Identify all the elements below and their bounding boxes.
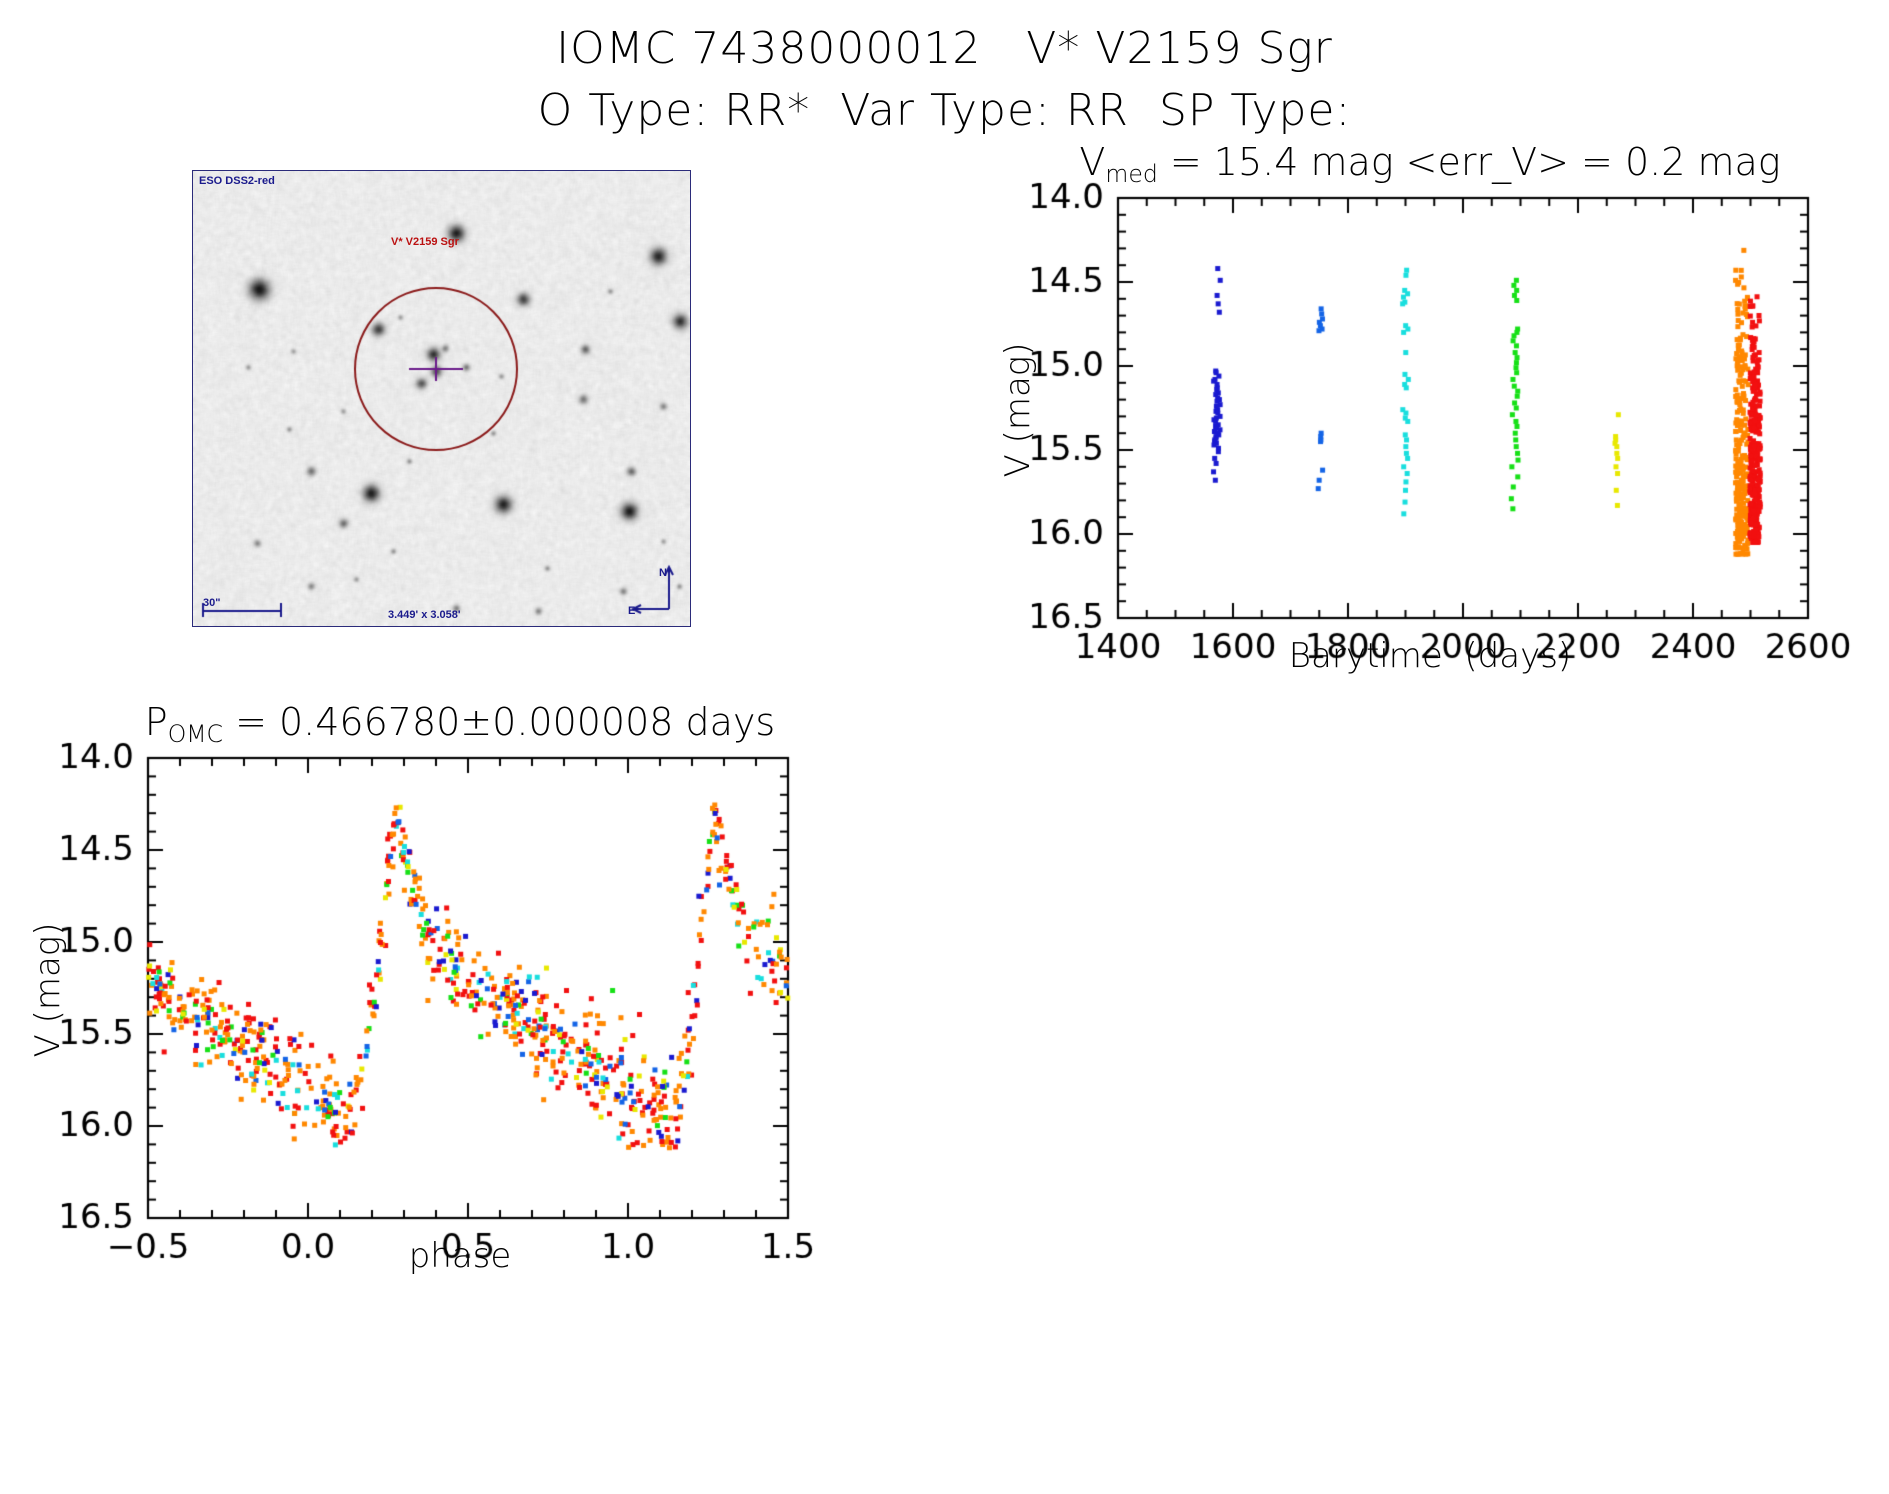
light-curve-panel: Vmed = 15.4 mag <err_V> = 0.2 mag Baryti… xyxy=(1000,140,1860,680)
page-title: IOMC 7438000012 V* V2159 Sgr O Type: RR*… xyxy=(0,18,1889,142)
title-line-object: IOMC 7438000012 V* V2159 Sgr xyxy=(0,18,1889,80)
light-curve-xlabel: Barytime (days) xyxy=(1000,636,1860,676)
title-line-types: O Type: RR* Var Type: RR SP Type: xyxy=(0,80,1889,142)
phase-curve-plot[interactable] xyxy=(30,700,890,1280)
east-label: E xyxy=(628,605,635,617)
finder-chart[interactable]: ESO DSS2-red V* V2159 Sgr 30" 3.449' x 3… xyxy=(192,170,691,627)
phase-curve-xlabel: phase xyxy=(30,1236,890,1276)
survey-label: ESO DSS2-red xyxy=(199,175,275,187)
light-curve-ylabel: V (mag) xyxy=(998,160,1038,660)
north-label: N xyxy=(659,567,667,579)
light-curve-plot[interactable] xyxy=(1000,140,1860,680)
field-size-label: 3.449' x 3.058' xyxy=(388,609,461,621)
scalebar-label: 30" xyxy=(203,597,220,609)
phase-curve-panel: POMC = 0.466780±0.000008 days phase V (m… xyxy=(30,700,890,1280)
target-name-label: V* V2159 Sgr xyxy=(391,236,459,248)
phase-curve-ylabel: V (mag) xyxy=(28,740,68,1240)
